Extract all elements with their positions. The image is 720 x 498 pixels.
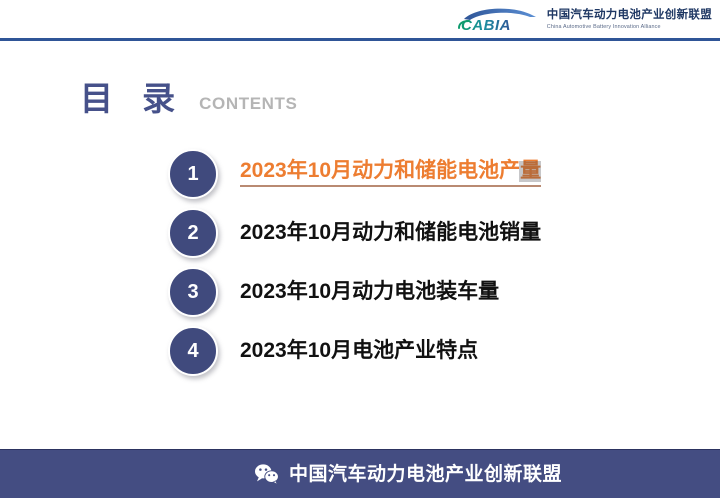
footer-content: 中国汽车动力电池产业创新联盟 xyxy=(254,463,562,485)
contents-item-2-badge: 2 xyxy=(168,208,218,258)
page-header: CABIA 中国汽车动力电池产业创新联盟 China Automotive Ba… xyxy=(0,0,720,40)
contents-item-3-label[interactable]: 2023年10月动力电池装车量 xyxy=(240,281,499,302)
header-divider xyxy=(0,38,720,41)
svg-text:CABIA: CABIA xyxy=(461,17,511,34)
cabia-logo-icon: CABIA xyxy=(456,6,540,34)
contents-item-3[interactable]: 3 2023年10月动力电池装车量 xyxy=(168,262,688,321)
contents-list: 1 2023年10月动力和储能电池产量 2 2023年10月动力和储能电池销量 … xyxy=(168,144,688,380)
contents-item-1-badge: 1 xyxy=(168,149,218,199)
brand-name-en: China Automotive Battery Innovation Alli… xyxy=(547,25,712,31)
page-title-en: CONTENTS xyxy=(199,95,297,115)
contents-item-3-badge: 3 xyxy=(168,267,218,317)
contents-item-2-label[interactable]: 2023年10月动力和储能电池销量 xyxy=(240,222,541,243)
brand-text: 中国汽车动力电池产业创新联盟 China Automotive Battery … xyxy=(547,10,712,30)
brand-logo: CABIA 中国汽车动力电池产业创新联盟 China Automotive Ba… xyxy=(456,6,712,34)
contents-item-4[interactable]: 4 2023年10月电池产业特点 xyxy=(168,321,688,380)
footer-label: 中国汽车动力电池产业创新联盟 xyxy=(289,465,562,484)
brand-name-cn: 中国汽车动力电池产业创新联盟 xyxy=(547,10,712,22)
contents-item-4-label[interactable]: 2023年10月电池产业特点 xyxy=(240,340,478,361)
contents-item-1-label[interactable]: 2023年10月动力和储能电池产量 xyxy=(240,160,541,187)
page-footer: 中国汽车动力电池产业创新联盟 xyxy=(0,449,720,498)
wechat-icon xyxy=(254,463,280,485)
page-title: 目 录 CONTENTS xyxy=(80,82,297,115)
page-title-cn: 目 录 xyxy=(80,82,185,115)
contents-item-4-badge: 4 xyxy=(168,326,218,376)
contents-item-1[interactable]: 1 2023年10月动力和储能电池产量 xyxy=(168,144,688,203)
contents-item-2[interactable]: 2 2023年10月动力和储能电池销量 xyxy=(168,203,688,262)
